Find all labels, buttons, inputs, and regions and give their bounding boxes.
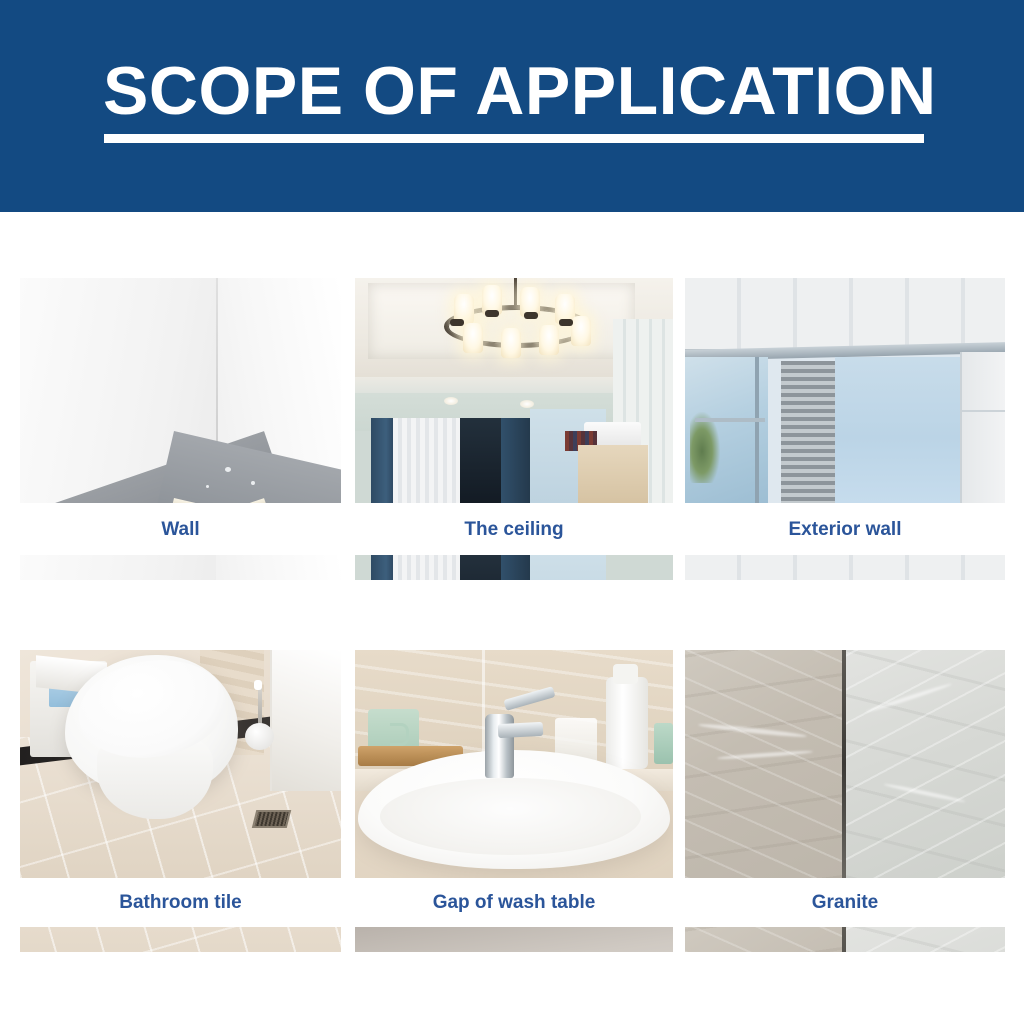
grid-cell-exterior-wall[interactable] xyxy=(685,278,1005,503)
photo-strip-ceiling xyxy=(355,555,673,580)
header-banner: SCOPE OF APPLICATION xyxy=(0,0,1024,212)
application-grid: Wall xyxy=(0,212,1024,1024)
caption-ceiling: The ceiling xyxy=(355,519,673,541)
photo-wall-corner-image xyxy=(20,278,341,503)
photo-strip-wall xyxy=(20,555,341,580)
photo-strip-bathroom-tile xyxy=(20,927,341,952)
caption-bathroom-tile: Bathroom tile xyxy=(20,892,341,914)
photo-granite-slab-image xyxy=(685,650,1005,878)
photo-strip-wash-table xyxy=(355,927,673,952)
grid-cell-bathroom-tile[interactable] xyxy=(20,650,341,878)
grid-cell-wall[interactable] xyxy=(20,278,341,503)
page-root: SCOPE OF APPLICATION Wall xyxy=(0,0,1024,1024)
caption-exterior-wall: Exterior wall xyxy=(685,519,1005,541)
photo-ceiling-chandelier-image xyxy=(355,278,673,503)
photo-strip-granite xyxy=(685,927,1005,952)
photo-exterior-facade-image xyxy=(685,278,1005,503)
caption-wall: Wall xyxy=(20,519,341,541)
grid-cell-granite[interactable] xyxy=(685,650,1005,878)
grid-cell-ceiling[interactable] xyxy=(355,278,673,503)
photo-washbasin-sink-image xyxy=(355,650,673,878)
title-underline-rule xyxy=(104,134,924,143)
page-title: SCOPE OF APPLICATION xyxy=(103,52,925,130)
caption-granite: Granite xyxy=(685,892,1005,914)
photo-bathroom-toilet-tile-image xyxy=(20,650,341,878)
photo-strip-exterior-wall xyxy=(685,555,1005,580)
caption-wash-table: Gap of wash table xyxy=(355,892,673,914)
grid-cell-wash-table[interactable] xyxy=(355,650,673,878)
